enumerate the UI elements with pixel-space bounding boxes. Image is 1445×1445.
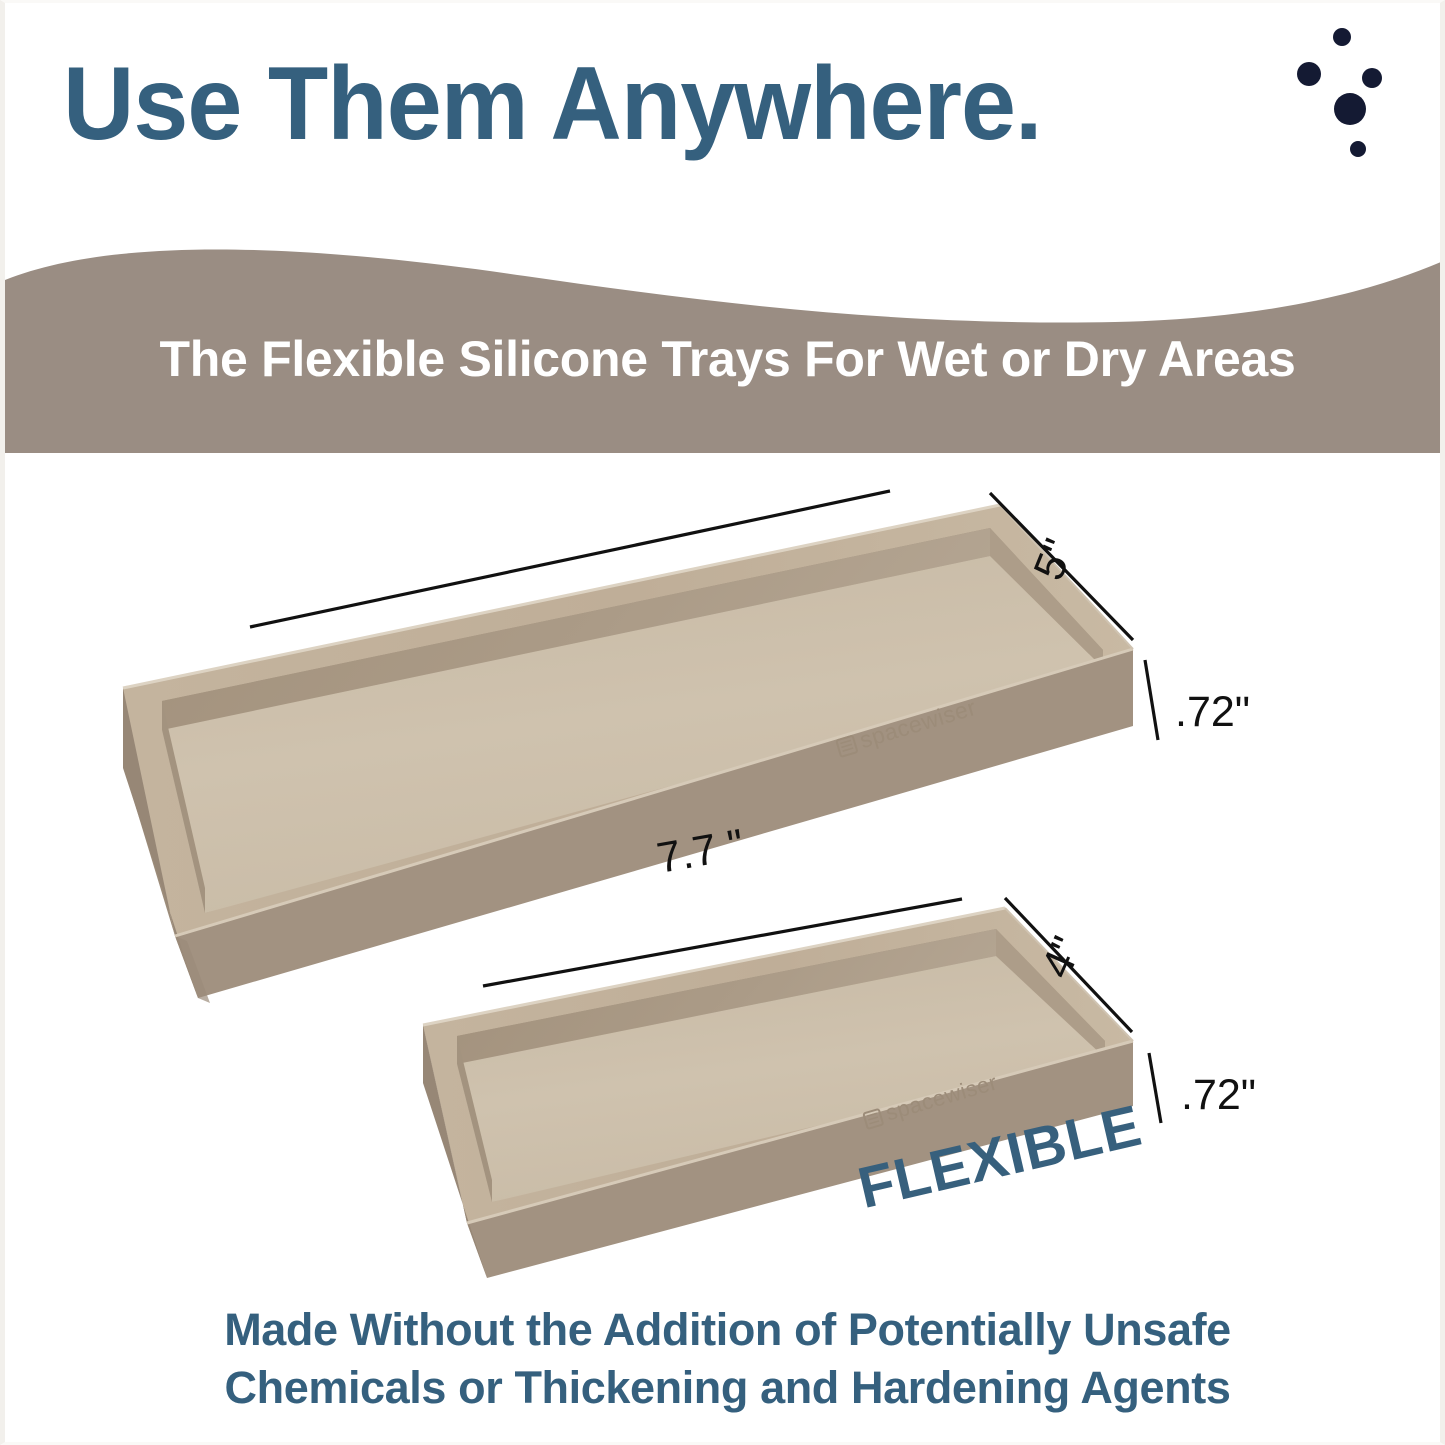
product-illustration: spacewiser 11.7" 5" .72" <box>5 458 1445 1288</box>
product-infographic: Use Them Anywhere. The Flexible Silicone… <box>0 0 1445 1445</box>
decorative-dot-cluster <box>1295 23 1435 163</box>
subtitle-banner: The Flexible Silicone Trays For Wet or D… <box>5 218 1445 458</box>
page-title: Use Them Anywhere. <box>63 51 1042 157</box>
banner-subtitle: The Flexible Silicone Trays For Wet or D… <box>5 330 1445 388</box>
footer-line-1: Made Without the Addition of Potentially… <box>5 1301 1445 1359</box>
large-tray-length-label: 11.7" <box>467 458 571 463</box>
decorative-dot-4 <box>1334 93 1366 125</box>
decorative-dot-5 <box>1350 141 1366 157</box>
small-tray-height-label: .72" <box>1181 1071 1256 1119</box>
small-tray-height-dimension: .72" <box>1149 1053 1256 1123</box>
large-tray-height-dimension: .72" <box>1145 660 1250 740</box>
large-tray-height-label: .72" <box>1175 688 1250 736</box>
footer-claim: Made Without the Addition of Potentially… <box>5 1301 1445 1416</box>
decorative-dot-3 <box>1362 68 1382 88</box>
decorative-dot-1 <box>1333 28 1351 46</box>
decorative-dot-2 <box>1297 62 1321 86</box>
small-silicone-tray: spacewiser <box>423 908 1133 1278</box>
trays-svg: spacewiser 11.7" 5" .72" <box>5 458 1445 1288</box>
footer-line-2: Chemicals or Thickening and Hardening Ag… <box>5 1359 1445 1417</box>
